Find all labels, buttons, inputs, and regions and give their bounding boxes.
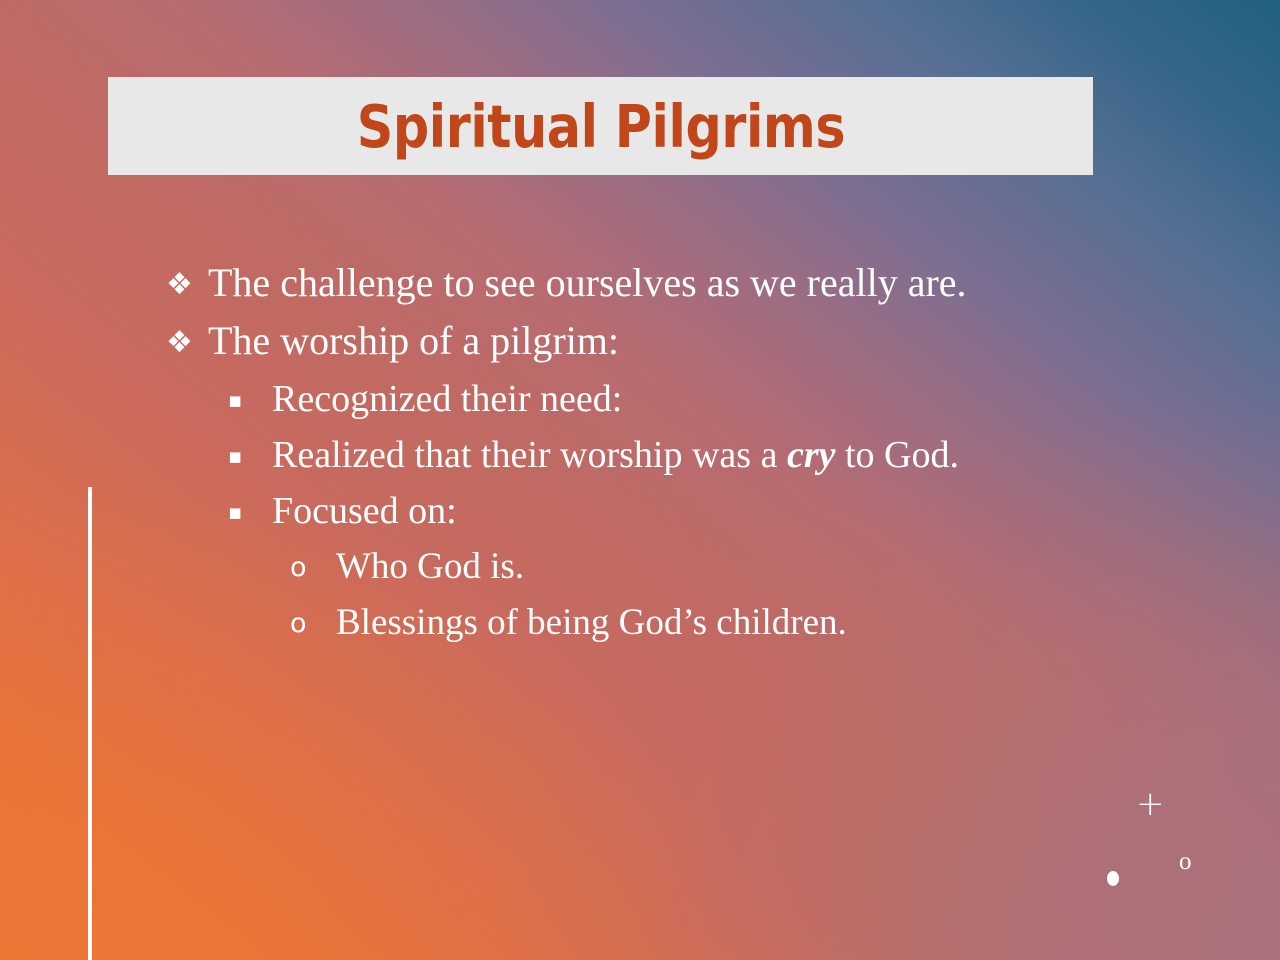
list-item: ▪ Focused on: bbox=[0, 486, 1280, 536]
list-item-label: Blessings of being God’s children. bbox=[336, 598, 847, 648]
page-title: Spiritual Pilgrims bbox=[356, 97, 844, 156]
list-item-label-after: to God. bbox=[835, 434, 959, 476]
list-item-label: The worship of a pilgrim: bbox=[208, 316, 619, 366]
diamond-cluster-bullet-icon: ❖ bbox=[166, 270, 208, 300]
list-item-label: Recognized their need: bbox=[272, 374, 622, 424]
list-item: ❖ The worship of a pilgrim: bbox=[0, 316, 1280, 366]
slide-title-bar: Spiritual Pilgrims bbox=[108, 77, 1093, 175]
plus-mark-icon: + bbox=[1136, 787, 1165, 821]
slide-body-content: ❖ The challenge to see ourselves as we r… bbox=[0, 258, 1280, 654]
list-item: o Blessings of being God’s children. bbox=[0, 598, 1280, 648]
list-item: ▪ Realized that their worship was a cry … bbox=[0, 430, 1280, 480]
presentation-slide: Spiritual Pilgrims ❖ The challenge to se… bbox=[0, 0, 1280, 960]
list-item: ▪ Recognized their need: bbox=[0, 374, 1280, 424]
list-item-label: The challenge to see ourselves as we rea… bbox=[208, 258, 967, 308]
list-item-emphasis: cry bbox=[787, 434, 836, 476]
list-item-label: Who God is. bbox=[336, 542, 524, 592]
small-square-bullet-icon: ▪ bbox=[228, 390, 272, 411]
list-item-label-before: Realized that their worship was a bbox=[272, 434, 787, 476]
list-item-label: Focused on: bbox=[272, 486, 457, 536]
small-square-bullet-icon: ▪ bbox=[228, 502, 272, 523]
list-item: ❖ The challenge to see ourselves as we r… bbox=[0, 258, 1280, 308]
circle-mark-icon: o bbox=[1179, 849, 1192, 874]
hollow-circle-bullet-icon: o bbox=[290, 610, 336, 637]
list-item-label: Realized that their worship was a cry to… bbox=[272, 430, 959, 480]
list-item: o Who God is. bbox=[0, 542, 1280, 592]
hollow-circle-bullet-icon: o bbox=[290, 554, 336, 581]
diamond-cluster-bullet-icon: ❖ bbox=[166, 328, 208, 358]
small-square-bullet-icon: ▪ bbox=[228, 446, 272, 467]
dot-mark-icon bbox=[1107, 871, 1119, 886]
